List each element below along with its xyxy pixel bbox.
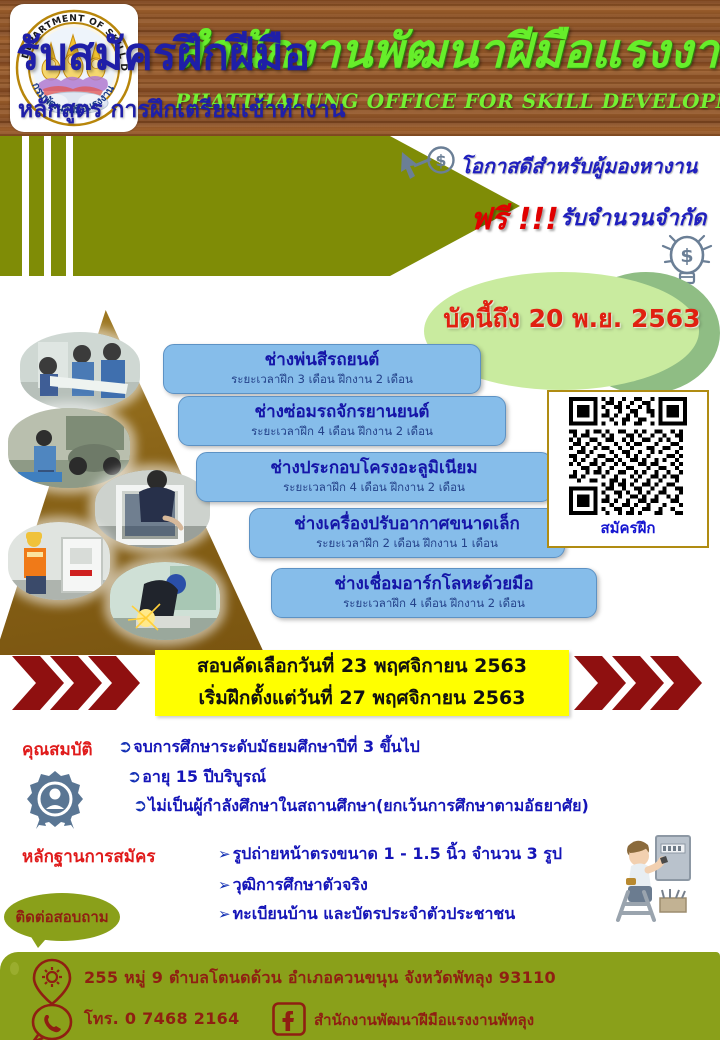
- course-pill[interactable]: ช่างเครื่องปรับอากาศขนาดเล็ก ระยะเวลาฝึก…: [249, 508, 565, 558]
- page-subtitle: หลักสูตร การฝึกเตรียมเข้าทำงาน: [18, 95, 345, 125]
- course-duration: ระยะเวลาฝึก 2 เดือน ฝึกงาน 1 เดือน: [262, 535, 552, 551]
- photo-air-conditioner: [8, 522, 110, 600]
- facebook-icon[interactable]: [272, 1002, 306, 1036]
- course-name: ช่างซ่อมรถจักรยานยนต์: [191, 401, 493, 423]
- chevron-left-group-icon: [10, 654, 152, 712]
- chevron-right-group-icon: [572, 654, 714, 712]
- worker-electrician-icon: [604, 828, 700, 924]
- course-duration: ระยะเวลาฝึก 4 เดือน ฝึกงาน 2 เดือน: [191, 423, 493, 439]
- tag-opportunity: โอกาสดีสำหรับผู้มองหางาน: [460, 150, 697, 182]
- deadline-text: บัดนี้ถึง 20 พ.ย. 2563: [432, 302, 712, 336]
- cursor-money-icon: $: [398, 146, 460, 186]
- qualifications-title: คุณสมบัติ: [22, 736, 93, 763]
- contact-bubble-label: ติดต่อสอบถาม: [4, 893, 120, 941]
- qual-bullet-icon: ➲: [118, 737, 132, 757]
- qual-bullet-icon: ➲: [127, 767, 141, 787]
- svg-text:$: $: [435, 151, 446, 170]
- page-title: รับสมัครฝึกฝีมือ: [16, 29, 310, 81]
- qualification-item: ➲ไม่เป็นผู้กำลังศึกษาในสถานศึกษา(ยกเว้นก…: [133, 795, 589, 817]
- course-name: ช่างเชื่อมอาร์กโลหะด้วยมือ: [284, 573, 584, 595]
- qualification-text: อายุ 15 ปีบริบูรณ์: [142, 767, 266, 786]
- document-text: ทะเบียนบ้าน และบัตรประจำตัวประชาชน: [233, 904, 516, 923]
- course-name: ช่างประกอบโครงอะลูมิเนียม: [209, 457, 539, 479]
- stripe-1: [22, 136, 29, 296]
- doc-bullet-icon: ➢: [218, 845, 231, 863]
- course-duration: ระยะเวลาฝึก 4 เดือน ฝึกงาน 2 เดือน: [209, 479, 539, 495]
- qr-registration-box[interactable]: สมัครฝึก: [547, 390, 709, 548]
- document-text: วุฒิการศึกษาตัวจริง: [233, 875, 368, 894]
- footer-phone: โทร. 0 7468 2164: [84, 1007, 240, 1032]
- course-pill[interactable]: ช่างซ่อมรถจักรยานยนต์ ระยะเวลาฝึก 4 เดือ…: [178, 396, 506, 446]
- course-pill[interactable]: ช่างประกอบโครงอะลูมิเนียม ระยะเวลาฝึก 4 …: [196, 452, 552, 502]
- qualification-item: ➲อายุ 15 ปีบริบูรณ์: [127, 766, 266, 788]
- document-item: ➢วุฒิการศึกษาตัวจริง: [218, 874, 368, 896]
- course-name: ช่างพ่นสีรถยนต์: [176, 349, 468, 371]
- phone-icon: [30, 1002, 74, 1040]
- doc-bullet-icon: ➢: [218, 876, 231, 894]
- footer-dot: [10, 962, 19, 975]
- documents-title: หลักฐานการสมัคร: [22, 843, 156, 870]
- qualification-text: จบการศึกษาระดับมัธยมศึกษาปีที่ 3 ขึ้นไป: [133, 737, 420, 756]
- photo-motorcycle-repair: [8, 408, 130, 488]
- document-text: รูปถ่ายหน้าตรงขนาด 1 - 1.5 นิ้ว จำนวน 3 …: [233, 844, 562, 863]
- course-pill[interactable]: ช่างเชื่อมอาร์กโลหะด้วยมือ ระยะเวลาฝึก 4…: [271, 568, 597, 618]
- svg-text:$: $: [680, 245, 693, 267]
- footer-address: 255 หมู่ 9 ตำบลโตนดด้วน อำเภอควนขนุน จัง…: [84, 966, 556, 991]
- photo-arc-welding: [110, 562, 220, 640]
- stripe-2: [44, 136, 51, 296]
- badge-person-icon: [24, 768, 86, 830]
- qual-bullet-icon: ➲: [133, 796, 147, 816]
- qr-label: สมัครฝึก: [554, 515, 702, 541]
- course-duration: ระยะเวลาฝึก 3 เดือน ฝึกงาน 2 เดือน: [176, 371, 468, 387]
- photo-aluminium-frame: [95, 470, 210, 548]
- document-item: ➢รูปถ่ายหน้าตรงขนาด 1 - 1.5 นิ้ว จำนวน 3…: [218, 843, 562, 865]
- document-item: ➢ทะเบียนบ้าน และบัตรประจำตัวประชาชน: [218, 903, 515, 925]
- course-duration: ระยะเวลาฝึก 4 เดือน ฝึกงาน 2 เดือน: [284, 595, 584, 611]
- stripe-3: [66, 136, 73, 296]
- map-pin-gear-icon: [30, 958, 74, 1006]
- exam-date-line: สอบคัดเลือกวันที่ 23 พฤศจิกายน 2563: [155, 650, 569, 682]
- course-pill[interactable]: ช่างพ่นสีรถยนต์ ระยะเวลาฝึก 3 เดือน ฝึกง…: [163, 344, 481, 394]
- qualification-text: ไม่เป็นผู้กำลังศึกษาในสถานศึกษา(ยกเว้นกา…: [148, 796, 589, 815]
- photo-spray-painting: [20, 332, 140, 410]
- footer-facebook-name: สำนักงานพัฒนาฝีมือแรงงานพัทลุง: [314, 1008, 534, 1032]
- course-name: ช่างเครื่องปรับอากาศขนาดเล็ก: [262, 513, 552, 535]
- tag-free: ฟรี !!!: [470, 196, 559, 243]
- poster-root: DEPARTMENT OF SKILL DEVELOPMENT กรมพัฒนา…: [0, 0, 720, 1040]
- qualification-item: ➲จบการศึกษาระดับมัธยมศึกษาปีที่ 3 ขึ้นไป: [118, 736, 420, 758]
- doc-bullet-icon: ➢: [218, 905, 231, 923]
- qr-code-icon[interactable]: [554, 397, 702, 515]
- training-start-line: เริ่มฝึกตั้งแต่วันที่ 27 พฤศจิกายน 2563: [155, 682, 569, 714]
- exam-banner: สอบคัดเลือกวันที่ 23 พฤศจิกายน 2563 เริ่…: [155, 650, 569, 716]
